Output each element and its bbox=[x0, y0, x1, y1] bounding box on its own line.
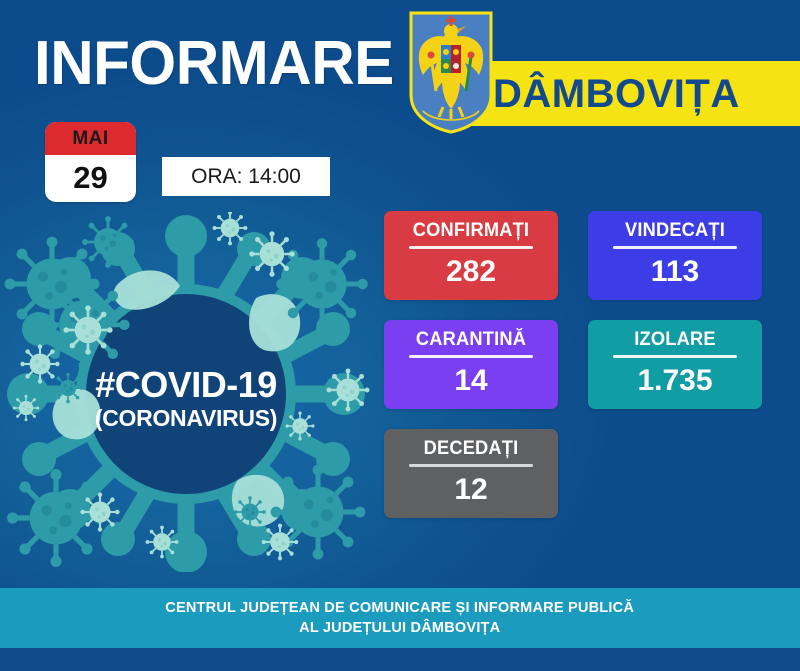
romanian-coat-of-arms-icon bbox=[409, 11, 493, 134]
coronavirus-illustration bbox=[0, 212, 372, 572]
date-badge-day: 29 bbox=[45, 155, 136, 202]
stat-card-izolare: IZOLARE 1.735 bbox=[588, 320, 762, 409]
stat-value: 282 bbox=[384, 249, 558, 295]
stat-value: 12 bbox=[384, 467, 558, 513]
stat-card-carantina: CARANTINĂ 14 bbox=[384, 320, 558, 409]
covid-information-poster: DÂMBOVIȚA INFORMARE bbox=[0, 0, 800, 671]
footer-banner: CENTRUL JUDEȚEAN DE COMUNICARE ȘI INFORM… bbox=[0, 588, 800, 648]
page-title: INFORMARE bbox=[34, 33, 394, 95]
stat-label: IZOLARE bbox=[591, 329, 758, 351]
stat-label: CARANTINĂ bbox=[387, 329, 554, 351]
footer-bottom-strip bbox=[0, 648, 800, 671]
date-badge: MAI 29 bbox=[45, 122, 136, 202]
footer-line-1: CENTRUL JUDEȚEAN DE COMUNICARE ȘI INFORM… bbox=[166, 598, 635, 618]
date-badge-month: MAI bbox=[45, 122, 136, 155]
stat-card-confirmati: CONFIRMAȚI 282 bbox=[384, 211, 558, 300]
statistics-grid: CONFIRMAȚI 282 VINDECAȚI 113 CARANTINĂ 1… bbox=[384, 211, 766, 538]
stat-value: 113 bbox=[588, 249, 762, 295]
stat-value: 14 bbox=[384, 358, 558, 404]
footer-line-2: AL JUDEȚULUI DÂMBOVIȚA bbox=[299, 618, 500, 638]
stat-row-2: CARANTINĂ 14 IZOLARE 1.735 bbox=[384, 320, 766, 409]
stat-label: CONFIRMAȚI bbox=[387, 220, 554, 242]
stat-card-decedati: DECEDAȚI 12 bbox=[384, 429, 558, 518]
stat-card-vindecati: VINDECAȚI 113 bbox=[588, 211, 762, 300]
hour-box: ORA: 14:00 bbox=[162, 157, 330, 196]
stat-row-3: DECEDAȚI 12 bbox=[384, 429, 766, 518]
stat-value: 1.735 bbox=[588, 358, 762, 404]
stat-label: DECEDAȚI bbox=[387, 438, 554, 460]
stat-label: VINDECAȚI bbox=[591, 220, 758, 242]
county-name: DÂMBOVIȚA bbox=[493, 66, 793, 122]
stat-row-1: CONFIRMAȚI 282 VINDECAȚI 113 bbox=[384, 211, 766, 300]
